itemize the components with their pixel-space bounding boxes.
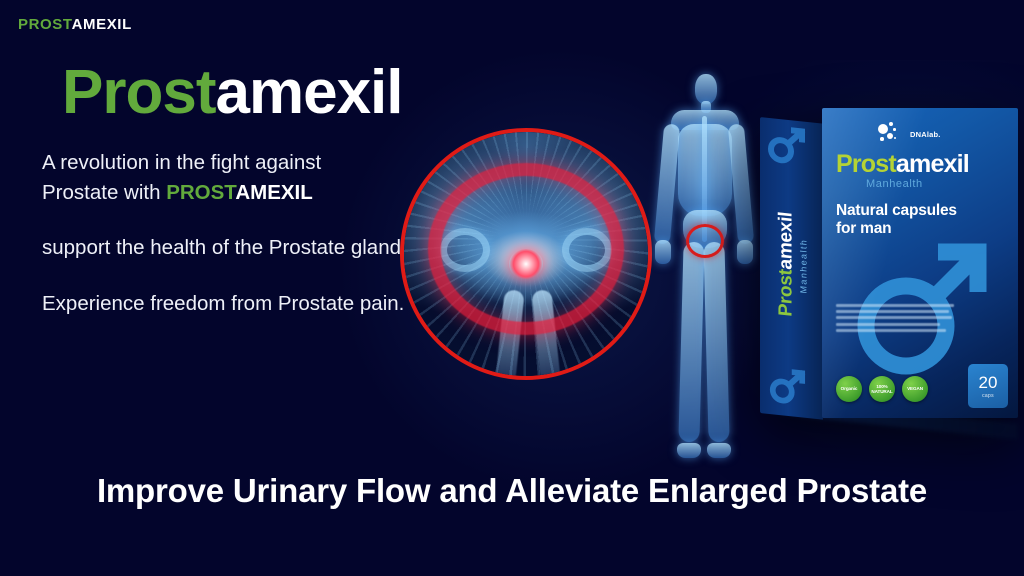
dna-bubbles-icon	[878, 122, 904, 146]
anatomy-foot-right	[707, 443, 731, 458]
prostamexil-advertisement: PROSTAMEXIL Prostamexil A revolution in …	[0, 0, 1024, 576]
package-side-subtitle: Manhealth	[799, 156, 809, 377]
copy-paragraph-2: support the health of the Prostate gland	[42, 233, 422, 263]
lab-logo-text: DNAlab.	[910, 130, 941, 139]
anatomy-leg-right	[703, 242, 729, 442]
package-side-name: Prostamexil	[776, 153, 798, 375]
package-product-name-white: amexil	[896, 150, 969, 178]
package-side-name-white: amexil	[776, 211, 797, 271]
ingredient-line	[836, 304, 954, 307]
anatomy-hand-right	[737, 240, 753, 264]
ingredient-line	[836, 329, 946, 332]
brand-logo-green-text: PROST	[18, 16, 72, 33]
package-claim-text: Natural capsules for man	[836, 202, 966, 239]
package-product-subtitle: Manhealth	[866, 178, 923, 190]
male-anatomy-scan	[645, 72, 763, 458]
anatomy-hand-left	[655, 240, 671, 264]
copy-paragraph-1: A revolution in the fight against Prosta…	[42, 148, 422, 207]
brand-logo: PROSTAMEXIL	[18, 16, 132, 33]
ingredient-line	[836, 316, 952, 319]
package-front-panel: DNAlab. Prostamexil Manhealth Natural ca…	[822, 108, 1018, 418]
prostate-location-marker-icon	[686, 224, 724, 258]
prostate-scan-magnifier	[400, 128, 652, 380]
anatomy-foot-left	[677, 443, 701, 458]
copy-brand-white: AMEXIL	[235, 181, 312, 204]
copy-line-1b: Prostate with	[42, 181, 166, 204]
capsule-count-number: 20	[979, 374, 998, 391]
package-side-text: Prostamexil Manhealth	[776, 153, 809, 376]
product-package: Prostamexil Manhealth	[760, 108, 1018, 418]
anatomy-leg-left	[678, 242, 704, 442]
package-ingredients-text	[836, 304, 954, 335]
copy-line-1a: A revolution in the fight against	[42, 151, 321, 174]
ingredient-line	[836, 323, 940, 326]
badge-natural: 100% NATURAL	[869, 376, 895, 402]
package-side-panel: Prostamexil Manhealth	[760, 117, 823, 420]
badge-organic: Organic	[836, 376, 862, 402]
mars-symbol-bottom-icon	[768, 364, 806, 408]
copy-paragraph-3: Experience freedom from Prostate pain.	[42, 289, 422, 319]
ingredient-line	[836, 310, 949, 313]
package-capsule-count: 20 caps	[968, 364, 1008, 408]
package-product-name-green: Prost	[836, 150, 896, 178]
capsule-count-unit: caps	[982, 393, 994, 399]
package-side-name-green: Prost	[776, 268, 797, 317]
page-title-white-text: amexil	[215, 58, 402, 127]
badge-vegan: VEGAN	[902, 376, 928, 402]
lab-logo: DNAlab.	[878, 122, 941, 146]
brand-logo-white-text: AMEXIL	[72, 16, 132, 33]
package-product-name: Prostamexil	[836, 150, 969, 179]
prostate-gland-hotspot	[509, 249, 543, 279]
page-title: Prostamexil	[62, 62, 403, 124]
bottom-headline: Improve Urinary Flow and Alleviate Enlar…	[0, 472, 1024, 510]
anatomy-head	[695, 74, 717, 104]
mars-symbol-watermark-icon	[854, 228, 994, 378]
page-title-green-text: Prost	[62, 58, 215, 127]
copy-brand-green: PROST	[166, 181, 235, 204]
certification-badges: Organic 100% NATURAL VEGAN	[836, 376, 928, 402]
marketing-copy: A revolution in the fight against Prosta…	[42, 148, 422, 319]
